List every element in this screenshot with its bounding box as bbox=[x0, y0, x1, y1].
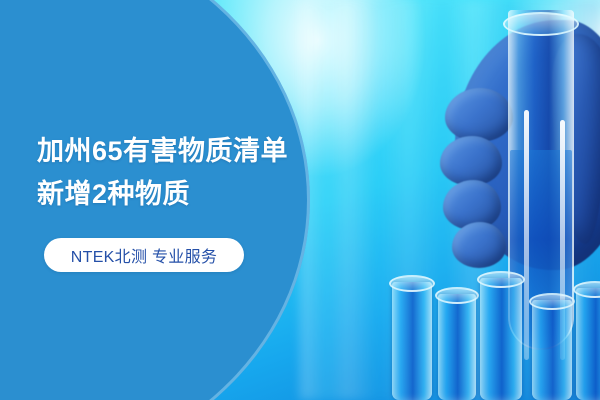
banner: 加州65有害物质清单 新增2种物质 NTEK北测 专业服务 bbox=[0, 0, 600, 400]
test-tube-rack bbox=[380, 260, 600, 400]
rack-test-tube bbox=[480, 278, 522, 400]
banner-content: 加州65有害物质清单 新增2种物质 NTEK北测 专业服务 bbox=[0, 0, 330, 400]
brand-badge[interactable]: NTEK北测 专业服务 bbox=[44, 238, 244, 272]
test-tube-rim bbox=[503, 12, 579, 36]
rack-test-tube bbox=[576, 288, 600, 400]
rack-test-tube bbox=[438, 294, 476, 400]
headline-line-2: 新增2种物质 bbox=[37, 173, 307, 216]
glove-finger-2 bbox=[440, 136, 502, 186]
rack-test-tube bbox=[392, 282, 432, 400]
glove-finger-1 bbox=[445, 88, 513, 142]
headline-line-1: 加州65有害物质清单 bbox=[37, 130, 307, 173]
rack-test-tube bbox=[532, 300, 572, 400]
brand-badge-label: NTEK北测 专业服务 bbox=[71, 243, 217, 267]
page-title: 加州65有害物质清单 新增2种物质 bbox=[37, 130, 307, 216]
